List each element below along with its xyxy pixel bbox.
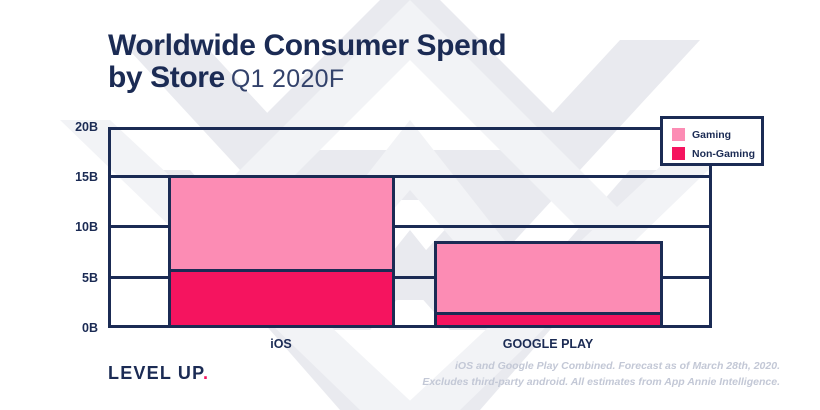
legend-swatch-gaming xyxy=(672,128,685,141)
chart-legend: Gaming Non-Gaming xyxy=(660,116,764,166)
x-axis-tick-google-play: GOOGLE PLAY xyxy=(503,337,594,351)
footnote-line-2: Excludes third-party android. All estima… xyxy=(422,374,780,390)
y-axis-tick-15b: 15B xyxy=(38,170,98,184)
chart-title-block: Worldwide Consumer Spend by StoreQ1 2020… xyxy=(108,30,506,94)
x-axis-tick-ios: iOS xyxy=(270,337,292,351)
page-title-period: Q1 2020F xyxy=(231,65,345,93)
y-axis-tick-0b: 0B xyxy=(38,321,98,335)
chart-title-line-1: Worldwide Consumer Spend xyxy=(108,30,506,62)
y-axis-tick-5b: 5B xyxy=(38,271,98,285)
footnote-line-1: iOS and Google Play Combined. Forecast a… xyxy=(422,358,780,374)
bar-google-play[interactable] xyxy=(434,241,663,328)
legend-item-non-gaming[interactable]: Non-Gaming xyxy=(672,144,761,163)
legend-label-non-gaming: Non-Gaming xyxy=(692,148,755,160)
plot-area xyxy=(108,127,712,328)
legend-swatch-non-gaming xyxy=(672,147,685,160)
bar-ios[interactable] xyxy=(168,175,395,328)
legend-item-gaming[interactable]: Gaming xyxy=(672,125,761,144)
logo-text: LEVEL UP xyxy=(108,363,203,383)
level-up-logo: LEVEL UP. xyxy=(108,363,209,384)
y-axis-tick-20b: 20B xyxy=(38,120,98,134)
logo-dot: . xyxy=(203,363,209,383)
bar-ios-segment-non-gaming[interactable] xyxy=(171,269,392,325)
y-axis-tick-10b: 10B xyxy=(38,220,98,234)
bar-google-play-segment-non-gaming[interactable] xyxy=(437,312,660,325)
page-title-secondary: by Store xyxy=(108,61,225,94)
page-title: Worldwide Consumer Spend xyxy=(108,29,506,62)
chart-canvas: Worldwide Consumer Spend by StoreQ1 2020… xyxy=(0,0,820,410)
footnote: iOS and Google Play Combined. Forecast a… xyxy=(422,358,780,391)
legend-label-gaming: Gaming xyxy=(692,129,731,141)
chart-title-line-2: by StoreQ1 2020F xyxy=(108,62,506,94)
